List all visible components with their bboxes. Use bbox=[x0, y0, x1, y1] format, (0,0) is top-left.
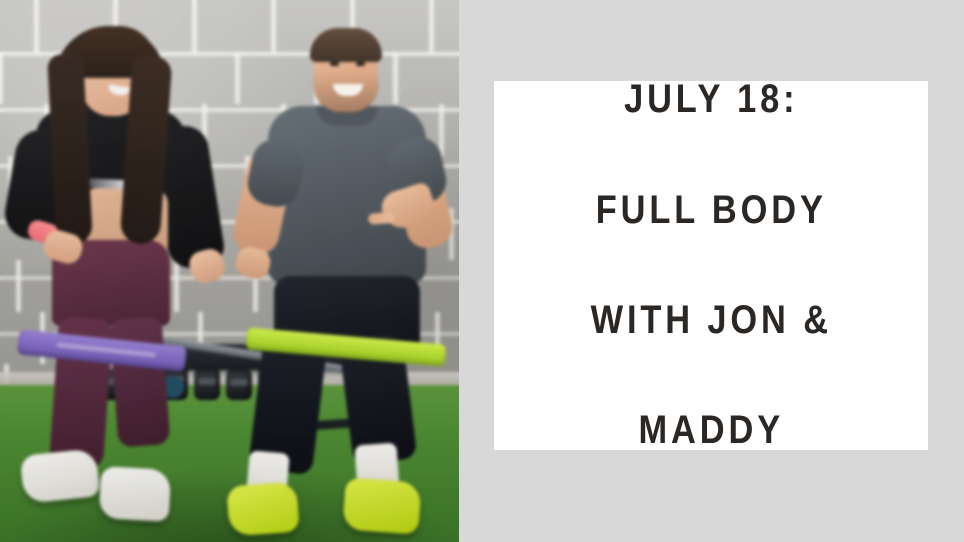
title-line-4: MADDY bbox=[590, 403, 831, 458]
jon-eye bbox=[330, 62, 339, 66]
jon-hair bbox=[310, 28, 382, 62]
title-line-2: FULL BODY bbox=[590, 183, 831, 238]
maddy-right-leg bbox=[110, 316, 171, 447]
jon-left-shoe bbox=[226, 482, 299, 537]
slide-canvas: NOT bbox=[0, 0, 964, 542]
jon-right-shoe bbox=[342, 477, 421, 534]
maddy-left-shoe bbox=[20, 448, 101, 504]
maddy-right-shoe bbox=[99, 466, 172, 522]
page-title: JULY 18: FULL BODY WITH JON & MADDY bbox=[582, 17, 840, 514]
workout-photo: NOT bbox=[0, 0, 459, 542]
title-card: JULY 18: FULL BODY WITH JON & MADDY bbox=[494, 81, 928, 450]
title-line-3: WITH JON & bbox=[590, 293, 831, 348]
title-line-1: JULY 18: bbox=[590, 72, 831, 127]
jon-eye bbox=[356, 62, 365, 66]
